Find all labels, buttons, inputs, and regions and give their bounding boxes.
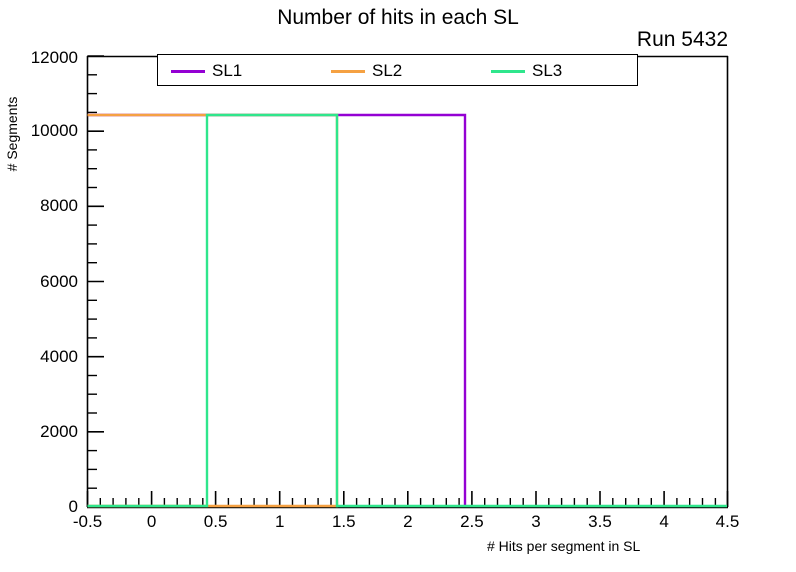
legend-entry-sl1[interactable]: SL1 <box>171 55 242 87</box>
x-tick-label-2p5: 2.5 <box>460 512 484 532</box>
legend-entry-sl3[interactable]: SL3 <box>491 55 562 87</box>
x-tick-label-0: 0 <box>147 512 156 532</box>
x-tick-label-m0p5: -0.5 <box>73 512 102 532</box>
x-tick-label-1: 1 <box>275 512 284 532</box>
x-tick-label-3p5: 3.5 <box>588 512 612 532</box>
y-tick-label-10000: 10000 <box>16 121 78 141</box>
legend-label-sl1: SL1 <box>212 61 242 81</box>
x-tick-label-0p5: 0.5 <box>204 512 228 532</box>
x-tick-label-4: 4 <box>659 512 668 532</box>
legend-swatch-sl1-icon <box>171 70 205 73</box>
legend-label-sl3: SL3 <box>532 61 562 81</box>
x-tick-label-2: 2 <box>403 512 412 532</box>
x-tick-label-3: 3 <box>531 512 540 532</box>
y-axis-major-ticks <box>88 56 105 507</box>
series-line-sl1 <box>88 115 466 506</box>
y-tick-label-6000: 6000 <box>16 272 78 292</box>
y-axis-title: # Segments <box>4 84 20 184</box>
legend-entry-sl2[interactable]: SL2 <box>331 55 402 87</box>
series-line-sl3 <box>88 115 728 506</box>
root-canvas: Number of hits in each SL Run 5432 <box>0 0 796 572</box>
series-line-sl2 <box>88 115 338 506</box>
y-tick-label-8000: 8000 <box>16 196 78 216</box>
legend-label-sl2: SL2 <box>372 61 402 81</box>
x-axis-major-ticks <box>88 491 728 507</box>
legend-swatch-sl2-icon <box>331 70 365 73</box>
x-axis-title: # Hits per segment in SL <box>487 538 640 554</box>
plot-frame <box>87 56 728 508</box>
y-tick-label-2000: 2000 <box>16 422 78 442</box>
y-tick-label-0: 0 <box>16 497 78 517</box>
x-tick-label-4p5: 4.5 <box>716 512 740 532</box>
x-tick-label-1p5: 1.5 <box>332 512 356 532</box>
legend: SL1 SL2 SL3 <box>157 54 638 86</box>
y-tick-label-4000: 4000 <box>16 347 78 367</box>
legend-swatch-sl3-icon <box>491 70 525 73</box>
y-tick-label-12000: 12000 <box>16 48 78 68</box>
